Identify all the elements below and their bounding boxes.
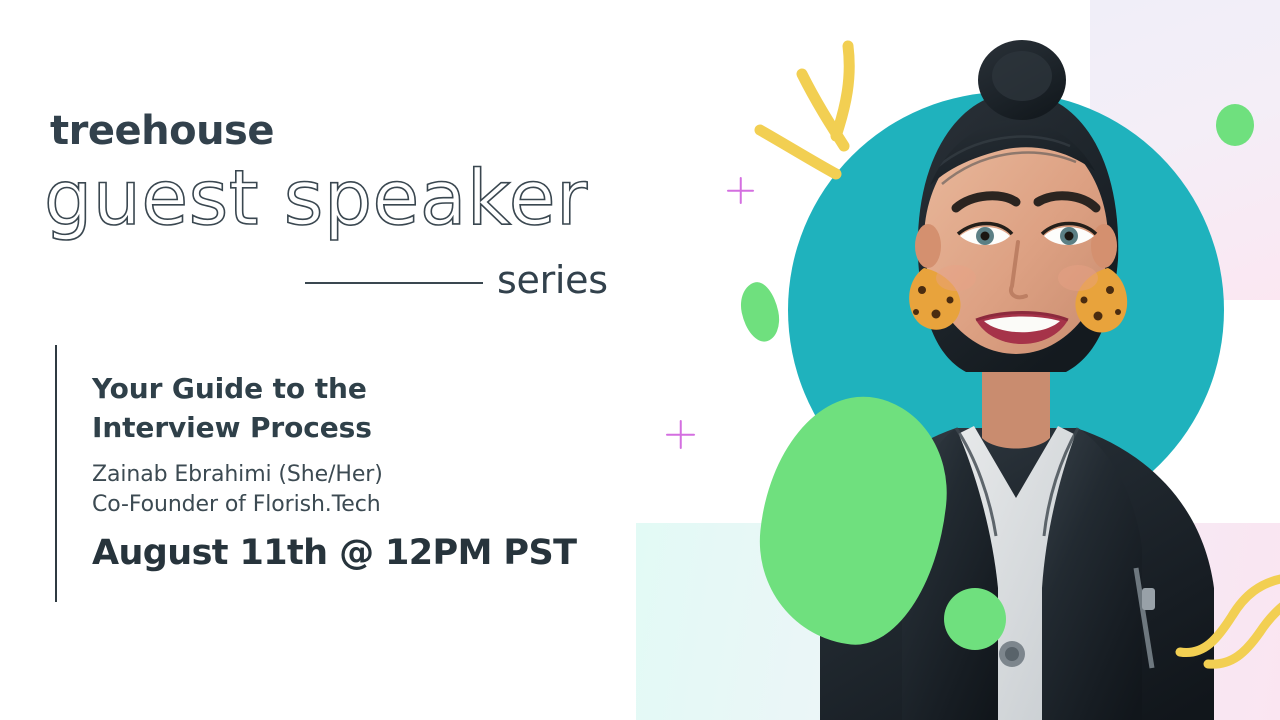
event-datetime: August 11th @ 12PM PST — [92, 533, 576, 573]
plus-mark-icon-lower — [666, 420, 695, 449]
green-circle-bottom — [944, 588, 1006, 650]
talk-title-line-1: Your Guide to the — [92, 372, 367, 405]
speaker-role: Co-Founder of Florish.Tech — [92, 492, 381, 517]
speaker-name: Zainab Ebrahimi (She/Her) — [92, 462, 383, 487]
green-blob-small — [736, 279, 784, 345]
series-divider-rule — [305, 282, 483, 284]
plus-mark-icon-upper — [727, 177, 754, 204]
headline-guest-speaker: guest speaker — [44, 160, 588, 236]
detail-vertical-rule — [55, 345, 57, 602]
brand-wordmark: treehouse — [50, 108, 274, 154]
slide-canvas: treehouse guest speaker series Your Guid… — [0, 0, 1280, 720]
series-label: series — [497, 258, 608, 302]
talk-title-line-2: Interview Process — [92, 411, 372, 444]
talk-title: Your Guide to the Interview Process — [92, 370, 532, 447]
series-row: series — [305, 258, 635, 306]
slide-text-content: treehouse guest speaker series Your Guid… — [0, 0, 660, 720]
yellow-wave-strokes-icon — [1160, 560, 1280, 690]
